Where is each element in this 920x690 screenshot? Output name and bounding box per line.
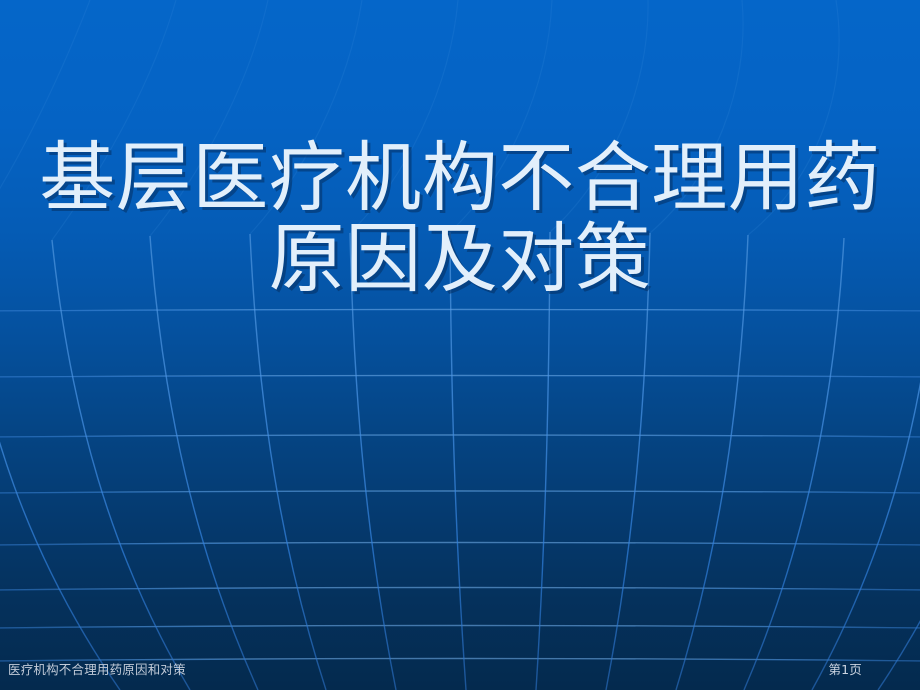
presentation-slide: 基层医疗机构不合理用药 原因及对策 医疗机构不合理用药原因和对策 第1页 (0, 0, 920, 690)
globe-grid-background (0, 0, 920, 690)
slide-title-line-1: 基层医疗机构不合理用药 (0, 138, 920, 219)
slide-title: 基层医疗机构不合理用药 原因及对策 (0, 138, 920, 299)
footer-document-title: 医疗机构不合理用药原因和对策 (8, 659, 186, 678)
slide-title-line-2: 原因及对策 (0, 219, 920, 300)
page-number: 第1页 (828, 659, 862, 678)
